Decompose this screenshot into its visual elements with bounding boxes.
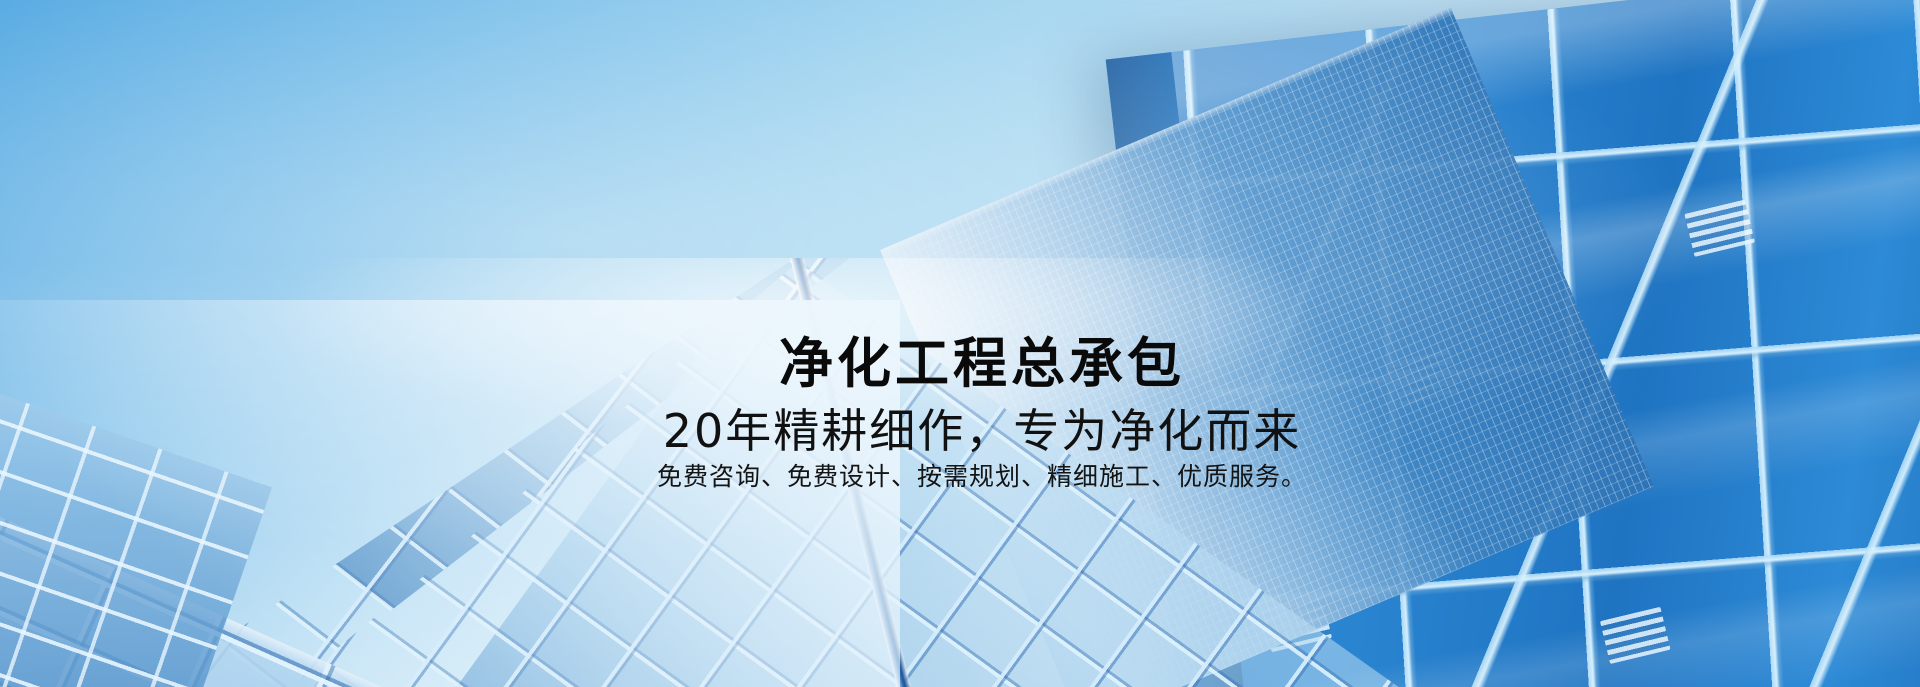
hero-banner: 净化工程总承包 20年精耕细作，专为净化而来 免费咨询、免费设计、按需规划、精细… (0, 0, 1920, 687)
banner-tagline: 免费咨询、免费设计、按需规划、精细施工、优质服务。 (632, 463, 1332, 491)
banner-headline: 净化工程总承包 (632, 336, 1332, 391)
banner-subheadline: 20年精耕细作，专为净化而来 (632, 407, 1332, 455)
banner-copy: 净化工程总承包 20年精耕细作，专为净化而来 免费咨询、免费设计、按需规划、精细… (632, 336, 1332, 491)
